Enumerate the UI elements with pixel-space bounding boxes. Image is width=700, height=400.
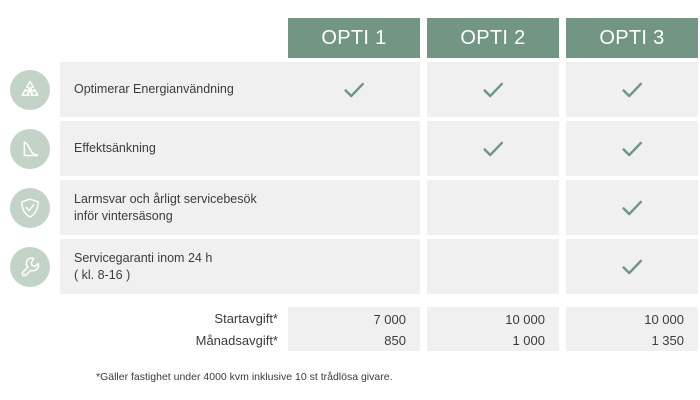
column-gap (559, 329, 566, 351)
cell-opti3-feature4 (566, 239, 698, 294)
cell-opti1-feature4 (288, 239, 420, 294)
check-mark-icon (619, 77, 645, 103)
price-opti1-startavgift: 7 000 (288, 307, 420, 329)
check-mark-icon (480, 136, 506, 162)
feature-label: Larmsvar och årligt servicebesök inför v… (60, 180, 288, 235)
table-row: Effektsänkning (0, 121, 700, 176)
feature-label-text: Larmsvar och årligt servicebesök inför v… (74, 191, 257, 224)
price-opti2-manadsavgift: 1 000 (427, 329, 559, 351)
check-mark-icon (619, 136, 645, 162)
feature-icon-cell (0, 239, 60, 294)
table-row: Servicegaranti inom 24 h ( kl. 8-16 ) (0, 239, 700, 294)
column-gap (420, 307, 427, 329)
feature-icon-cell (0, 62, 60, 117)
column-header-opti1[interactable]: OPTI 1 (288, 18, 420, 58)
feature-label-line2: ( kl. 8-16 ) (74, 268, 130, 282)
feature-icon-cell (0, 180, 60, 235)
table-grid: OPTI 1 OPTI 2 OPTI 3 (0, 18, 700, 351)
check-mark-icon (341, 77, 367, 103)
header-empty-corner (0, 18, 288, 58)
column-header-opti2-label: OPTI 2 (460, 27, 525, 50)
price-row-startavgift: Startavgift* 7 000 10 000 10 000 (0, 307, 700, 329)
table-row: Optimerar Energianvändning (0, 62, 700, 117)
feature-label: Optimerar Energianvändning (60, 62, 288, 117)
cell-opti2-feature2 (427, 121, 559, 176)
column-gap (420, 180, 427, 235)
cell-opti1-feature3 (288, 180, 420, 235)
check-mark-icon (619, 195, 645, 221)
feature-label-text: Effektsänkning (74, 140, 156, 157)
column-header-opti1-label: OPTI 1 (321, 27, 386, 50)
column-gap (559, 180, 566, 235)
column-gap (420, 18, 427, 58)
feature-label-line1: Servicegaranti inom 24 h (74, 251, 212, 265)
column-gap (420, 239, 427, 294)
column-gap (420, 62, 427, 117)
check-mark-icon (480, 77, 506, 103)
column-gap (559, 121, 566, 176)
cell-opti1-feature2 (288, 121, 420, 176)
cell-opti2-feature4 (427, 239, 559, 294)
price-row-label: Startavgift* (0, 307, 288, 329)
price-opti3-manadsavgift: 1 350 (566, 329, 698, 351)
column-gap (559, 18, 566, 58)
price-row-label: Månadsavgift* (0, 329, 288, 351)
column-header-opti3-label: OPTI 3 (599, 27, 664, 50)
footnote-text: *Gäller fastighet under 4000 kvm inklusi… (96, 371, 393, 383)
table-header-row: OPTI 1 OPTI 2 OPTI 3 (0, 18, 700, 58)
feature-label: Servicegaranti inom 24 h ( kl. 8-16 ) (60, 239, 288, 294)
cell-opti2-feature3 (427, 180, 559, 235)
column-gap (420, 329, 427, 351)
price-opti3-startavgift: 10 000 (566, 307, 698, 329)
price-opti1-manadsavgift: 850 (288, 329, 420, 351)
cell-opti1-feature1 (288, 62, 420, 117)
price-section: Startavgift* 7 000 10 000 10 000 Månadsa… (0, 307, 700, 351)
column-gap (420, 121, 427, 176)
column-gap (559, 62, 566, 117)
wrench-icon (10, 247, 50, 287)
column-gap (559, 239, 566, 294)
feature-icon-cell (0, 121, 60, 176)
feature-label-line1: Larmsvar och årligt servicebesök (74, 192, 257, 206)
price-row-manadsavgift: Månadsavgift* 850 1 000 1 350 (0, 329, 700, 351)
feature-label-line2: inför vintersäsong (74, 209, 173, 223)
shield-check-icon (10, 188, 50, 228)
power-decay-curve-icon (10, 129, 50, 169)
price-opti2-startavgift: 10 000 (427, 307, 559, 329)
cell-opti3-feature2 (566, 121, 698, 176)
cell-opti3-feature1 (566, 62, 698, 117)
column-gap (559, 307, 566, 329)
feature-label-text: Servicegaranti inom 24 h ( kl. 8-16 ) (74, 250, 212, 283)
cell-opti3-feature3 (566, 180, 698, 235)
column-header-opti2[interactable]: OPTI 2 (427, 18, 559, 58)
column-header-opti3[interactable]: OPTI 3 (566, 18, 698, 58)
feature-label-text: Optimerar Energianvändning (74, 81, 234, 98)
feature-label: Effektsänkning (60, 121, 288, 176)
recycle-icon (10, 70, 50, 110)
pricing-comparison-table: OPTI 1 OPTI 2 OPTI 3 (0, 0, 700, 400)
table-row: Larmsvar och årligt servicebesök inför v… (0, 180, 700, 235)
cell-opti2-feature1 (427, 62, 559, 117)
check-mark-icon (619, 254, 645, 280)
